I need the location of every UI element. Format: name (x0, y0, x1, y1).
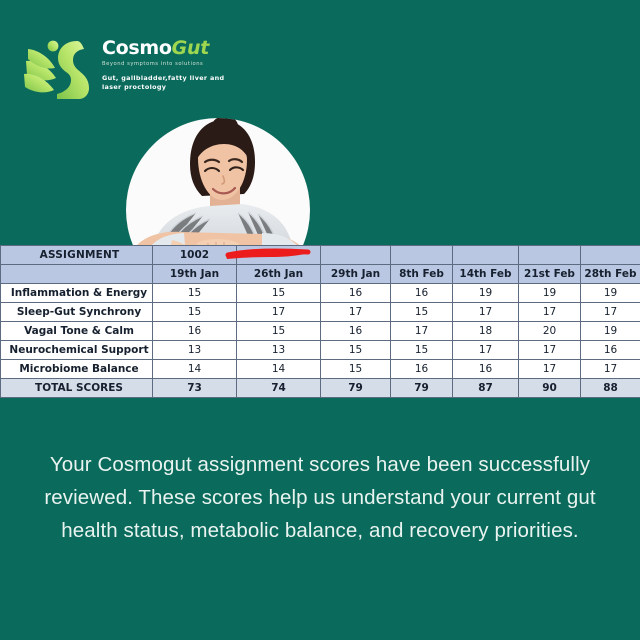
caption-text: Your Cosmogut assignment scores have bee… (26, 448, 614, 548)
assignment-id-cell: 1002 (153, 246, 237, 265)
score-cell: 16 (153, 322, 237, 341)
score-cell: 16 (391, 284, 453, 303)
score-cell: 17 (581, 303, 640, 322)
assignment-blank-cell (321, 246, 391, 265)
score-cell: 17 (581, 360, 640, 379)
score-cell: 15 (321, 360, 391, 379)
table-header-assignment-row: ASSIGNMENT 1002 (1, 246, 640, 265)
table-row: Inflammation & Energy 15 15 16 16 19 19 … (1, 284, 640, 303)
total-cell: 73 (153, 379, 237, 398)
row-label: Inflammation & Energy (1, 284, 153, 303)
score-cell: 13 (237, 341, 321, 360)
table-row: Microbiome Balance 14 14 15 16 16 17 17 (1, 360, 640, 379)
brand-name-part1: Cosmo (102, 37, 172, 59)
column-header-date: 14th Feb (453, 265, 519, 284)
row-label: Sleep-Gut Synchrony (1, 303, 153, 322)
swan-leaf-logo-icon (22, 33, 96, 105)
hero-figure-illustration (112, 112, 322, 258)
assignment-blank-cell (453, 246, 519, 265)
assignment-blank-cell (581, 246, 640, 265)
score-cell: 15 (153, 284, 237, 303)
score-cell: 14 (237, 360, 321, 379)
total-cell: 88 (581, 379, 640, 398)
score-cell: 17 (519, 303, 581, 322)
assignment-blank-cell (391, 246, 453, 265)
total-cell: 79 (321, 379, 391, 398)
brand-services: Gut, gallbladder,fatty liver and laser p… (102, 74, 227, 93)
column-header-date: 8th Feb (391, 265, 453, 284)
assignment-score-table-container: ASSIGNMENT 1002 19th Jan 26th Jan 29th J… (0, 245, 640, 398)
score-cell: 16 (581, 341, 640, 360)
score-cell: 17 (519, 341, 581, 360)
score-cell: 19 (581, 322, 640, 341)
column-header-date: 26th Jan (237, 265, 321, 284)
score-cell: 14 (153, 360, 237, 379)
score-cell: 15 (237, 284, 321, 303)
score-cell: 15 (391, 303, 453, 322)
column-header-date: 29th Jan (321, 265, 391, 284)
brand-wordmark: CosmoGut (102, 39, 242, 58)
score-cell: 19 (453, 284, 519, 303)
score-cell: 19 (581, 284, 640, 303)
assignment-score-table: ASSIGNMENT 1002 19th Jan 26th Jan 29th J… (0, 245, 640, 398)
score-cell: 16 (321, 284, 391, 303)
poster-canvas: CosmoGut Beyond symptoms into solutions … (0, 0, 640, 640)
score-cell: 18 (453, 322, 519, 341)
total-label: TOTAL SCORES (1, 379, 153, 398)
column-header-date: 28th Feb (581, 265, 640, 284)
score-cell: 17 (453, 341, 519, 360)
score-cell: 17 (321, 303, 391, 322)
score-cell: 17 (391, 322, 453, 341)
column-header-date: 21st Feb (519, 265, 581, 284)
column-header-date: 19th Jan (153, 265, 237, 284)
date-header-corner (1, 265, 153, 284)
hero-photo (112, 112, 322, 258)
score-cell: 13 (153, 341, 237, 360)
table-header-dates-row: 19th Jan 26th Jan 29th Jan 8th Feb 14th … (1, 265, 640, 284)
brand-tagline: Beyond symptoms into solutions (102, 61, 242, 67)
table-row: Sleep-Gut Synchrony 15 17 17 15 17 17 17 (1, 303, 640, 322)
assignment-blank-cell (519, 246, 581, 265)
row-label: Microbiome Balance (1, 360, 153, 379)
total-cell: 90 (519, 379, 581, 398)
total-cell: 87 (453, 379, 519, 398)
score-cell: 17 (453, 303, 519, 322)
score-cell: 16 (391, 360, 453, 379)
score-cell: 15 (321, 341, 391, 360)
table-total-row: TOTAL SCORES 73 74 79 79 87 90 88 (1, 379, 640, 398)
total-cell: 74 (237, 379, 321, 398)
row-label: Vagal Tone & Calm (1, 322, 153, 341)
total-cell: 79 (391, 379, 453, 398)
brand-logo: CosmoGut Beyond symptoms into solutions … (22, 33, 242, 111)
table-row: Neurochemical Support 13 13 15 15 17 17 … (1, 341, 640, 360)
brand-name-part2: Gut (172, 37, 209, 59)
score-cell: 19 (519, 284, 581, 303)
score-cell: 20 (519, 322, 581, 341)
assignment-blank-cell (237, 246, 321, 265)
score-cell: 17 (237, 303, 321, 322)
score-cell: 15 (391, 341, 453, 360)
score-cell: 15 (153, 303, 237, 322)
score-cell: 17 (519, 360, 581, 379)
brand-logo-text: CosmoGut Beyond symptoms into solutions … (102, 39, 242, 93)
score-cell: 16 (321, 322, 391, 341)
row-label: Neurochemical Support (1, 341, 153, 360)
score-cell: 16 (453, 360, 519, 379)
score-cell: 15 (237, 322, 321, 341)
table-title-cell: ASSIGNMENT (1, 246, 153, 265)
table-row: Vagal Tone & Calm 16 15 16 17 18 20 19 (1, 322, 640, 341)
